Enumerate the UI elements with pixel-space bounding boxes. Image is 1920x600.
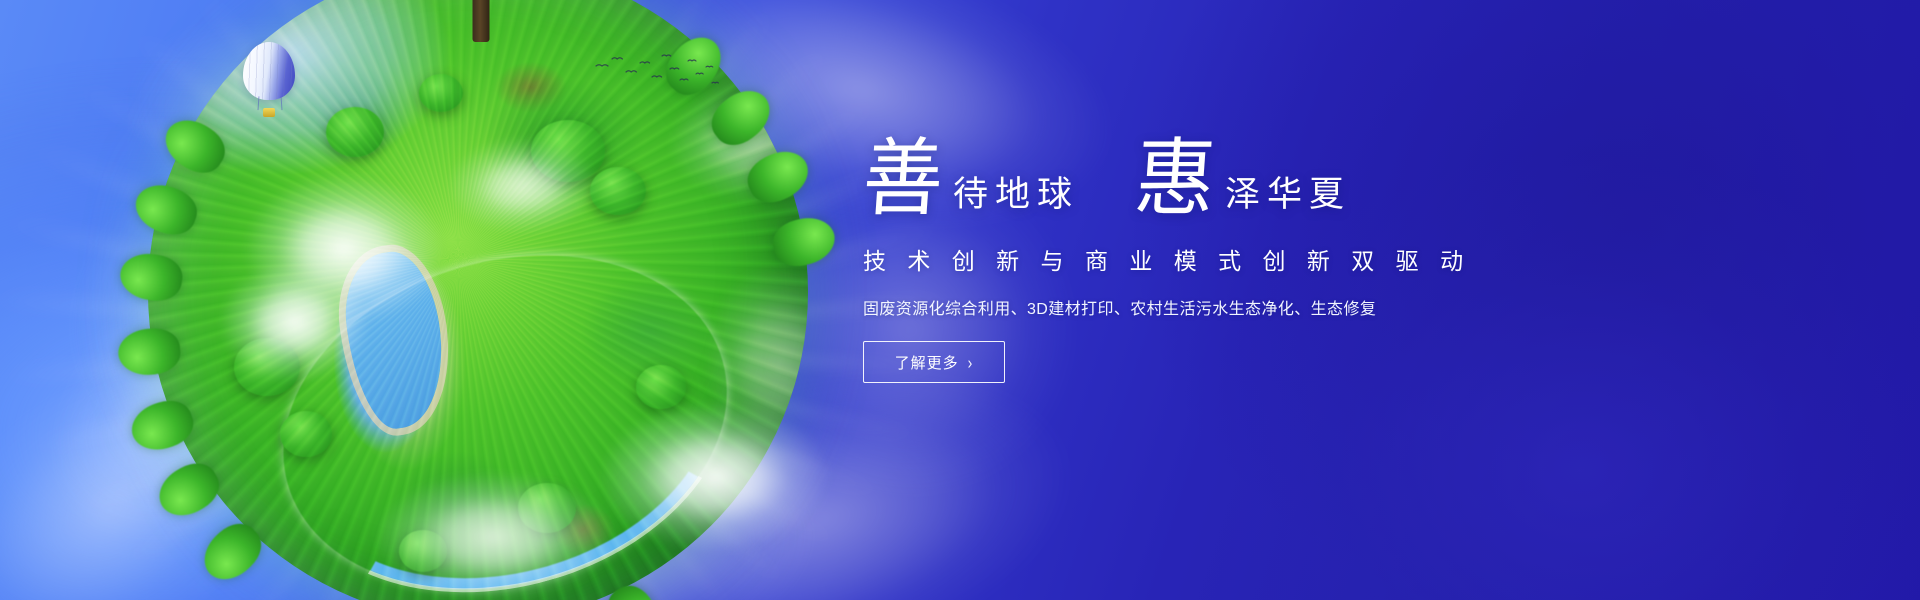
hero-subtitle: 技 术 创 新 与 商 业 模 式 创 新 双 驱 动 [863,242,1843,276]
birds-flock-icon [592,50,722,90]
planet-shrub [531,120,605,182]
headline-brush-char-2: 惠 [1132,142,1217,220]
planet-edge-cloud [374,472,614,600]
hero-banner: 善 待地球 惠 泽华夏 技 术 创 新 与 商 业 模 式 创 新 双 驱 动 … [0,0,1920,600]
headline-phrase-2: 惠 泽华夏 [1135,144,1351,218]
hero-content: 善 待地球 惠 泽华夏 技 术 创 新 与 商 业 模 式 创 新 双 驱 动 … [863,134,1843,383]
hot-air-balloon-icon [243,42,295,120]
planet-edge-cloud [220,262,370,382]
planet-feature-tree-trunk [473,0,490,42]
headline-brush-char-1: 善 [860,142,945,220]
headline-tail-2: 泽华夏 [1225,177,1351,218]
planet-cloud [448,138,598,234]
headline-phrase-1: 善 待地球 [863,144,1079,218]
planet-shrub [419,74,463,112]
balloon-envelope [243,42,295,100]
hero-description: 固废资源化综合利用、3D建材打印、农村生活污水生态净化、生态修复 [863,295,1843,319]
balloon-basket [263,108,275,117]
chevron-right-icon: › [968,353,974,371]
planet-shrub [280,411,332,457]
planet-edge-cloud [600,402,830,552]
planet-shrub [590,167,646,215]
learn-more-button[interactable]: 了解更多 › [863,341,1005,383]
learn-more-label: 了解更多 [895,352,959,373]
planet-shrub [636,365,686,409]
page-title: 善 待地球 惠 泽华夏 [863,134,1843,218]
planet-shrub [326,107,384,157]
headline-tail-1: 待地球 [953,177,1079,218]
